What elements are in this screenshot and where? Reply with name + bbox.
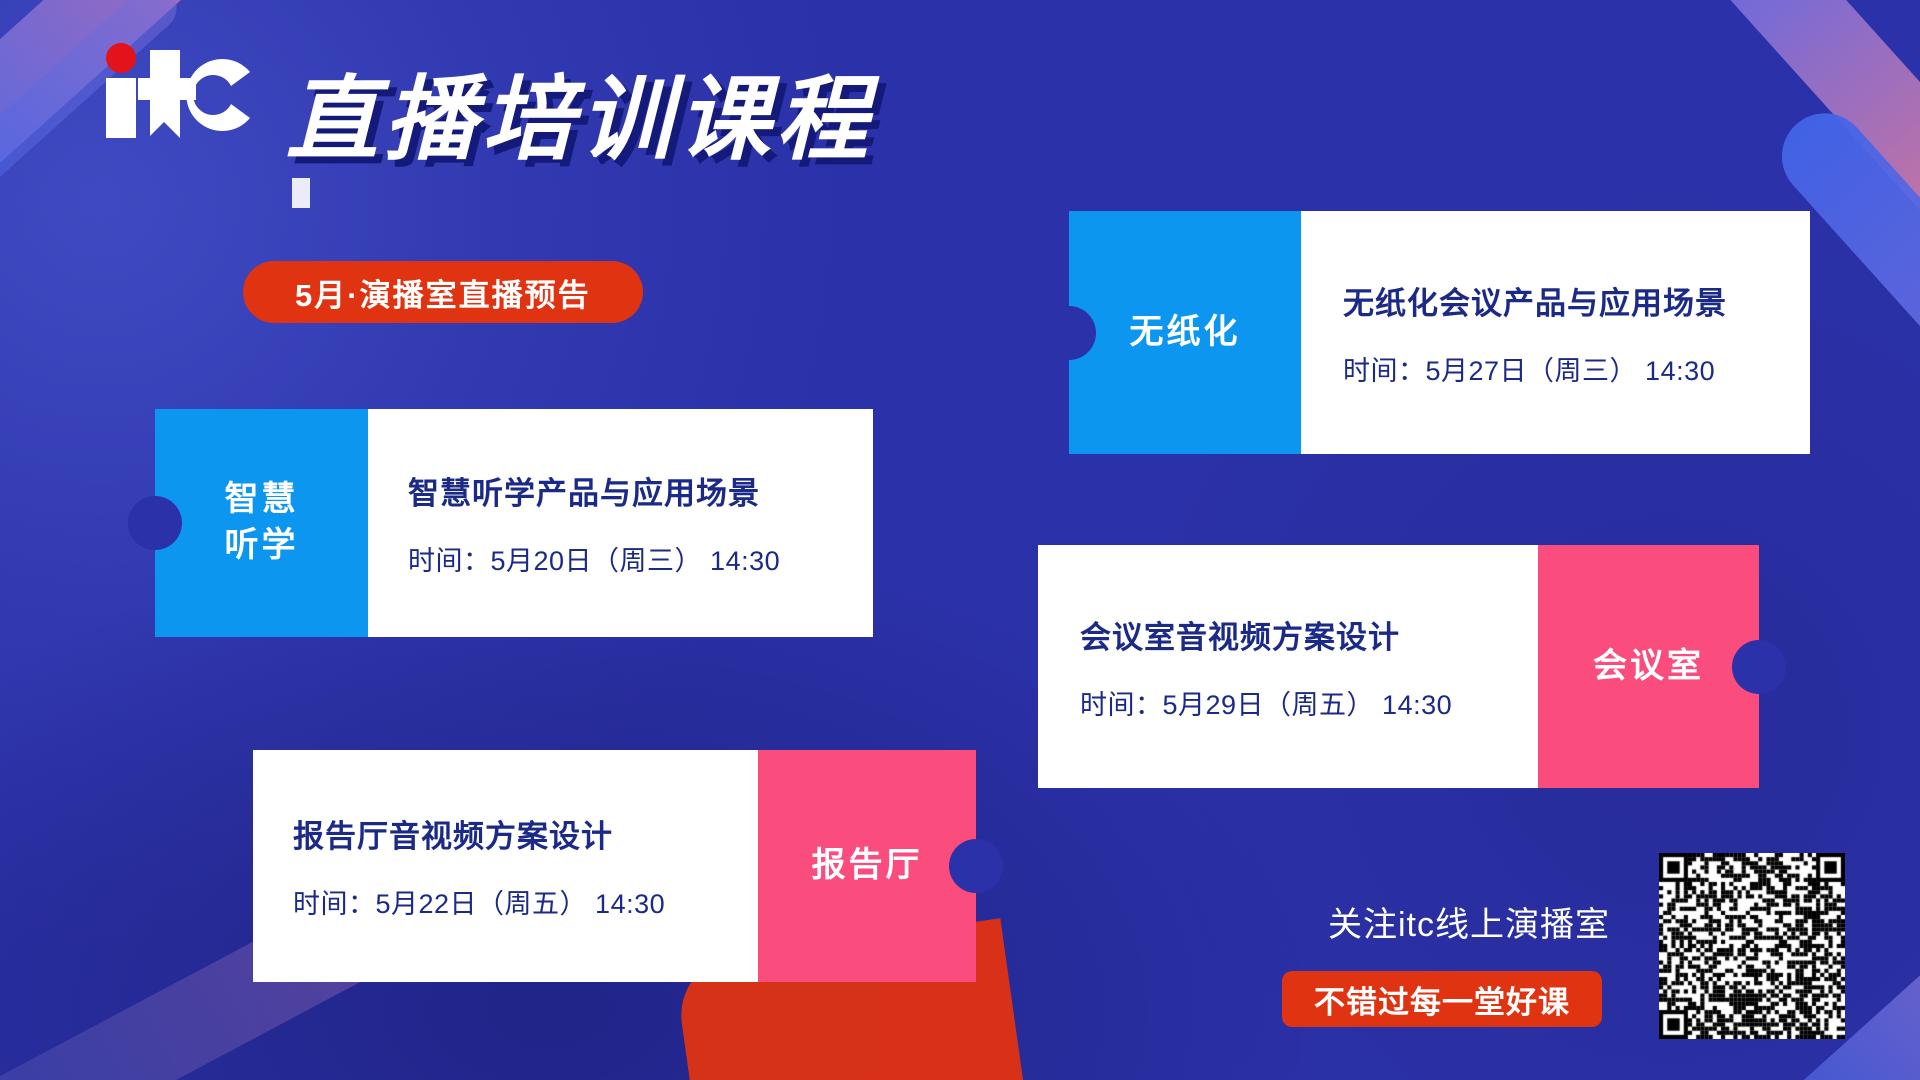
session-title: 会议室音视频方案设计 [1080,612,1538,657]
session-title: 智慧听学产品与应用场景 [408,468,873,513]
session-time: 时间：5月29日（周五） 14:30 [1080,683,1538,722]
subtitle-badge: 5月·演播室直播预告 [243,261,643,323]
itc-logo [98,40,258,148]
decorative-white-mark [292,178,310,208]
session-body-lecture-hall: 报告厅音视频方案设计 时间：5月22日（周五） 14:30 [253,750,758,982]
ticket-notch-icon [949,839,1003,893]
session-title: 报告厅音视频方案设计 [293,811,758,856]
ticket-notch-icon [1042,306,1096,360]
page-title: 直播培训课程 [286,74,874,166]
session-time: 时间：5月22日（周五） 14:30 [293,882,758,921]
session-time: 时间：5月27日（周三） 14:30 [1343,349,1715,388]
session-body-meeting-room: 会议室音视频方案设计 时间：5月29日（周五） 14:30 [1038,545,1538,788]
poster-root: 直播培训课程 5月·演播室直播预告 智慧 听学 智慧听学产品与应用场景 时间：5… [0,0,1920,1080]
cta-badge: 不错过每一堂好课 [1282,971,1602,1027]
logo-red-dot-icon [106,43,136,73]
session-card-paperless[interactable]: 无纸化 无纸化会议产品与应用场景 时间：5月27日（周三） 14:30 [1069,211,1810,454]
session-tag-meeting-room: 会议室 [1538,545,1759,788]
session-card-meeting-room[interactable]: 会议室 会议室音视频方案设计 时间：5月29日（周五） 14:30 [1038,545,1759,788]
ticket-notch-icon [128,496,182,550]
follow-text: 关注itc线上演播室 [1328,897,1610,946]
session-tag-paperless: 无纸化 [1069,211,1301,454]
itc-logo-mark [98,40,258,148]
session-time: 时间：5月20日（周三） 14:30 [408,539,873,578]
session-body-smart-listening: 智慧听学产品与应用场景 时间：5月20日（周三） 14:30 [368,409,873,637]
session-tag-smart-listening: 智慧 听学 [155,409,368,637]
ticket-notch-icon [1732,640,1786,694]
session-card-lecture-hall[interactable]: 报告厅 报告厅音视频方案设计 时间：5月22日（周五） 14:30 [253,750,976,982]
session-card-smart-listening[interactable]: 智慧 听学 智慧听学产品与应用场景 时间：5月20日（周三） 14:30 [155,409,873,637]
session-body-paperless: 无纸化会议产品与应用场景 时间：5月27日（周三） 14:30 [1301,211,1810,454]
session-title: 无纸化会议产品与应用场景 [1343,278,1727,323]
session-tag-lecture-hall: 报告厅 [758,750,976,982]
qr-code-canvas [1659,853,1845,1039]
qr-code[interactable] [1659,853,1845,1039]
